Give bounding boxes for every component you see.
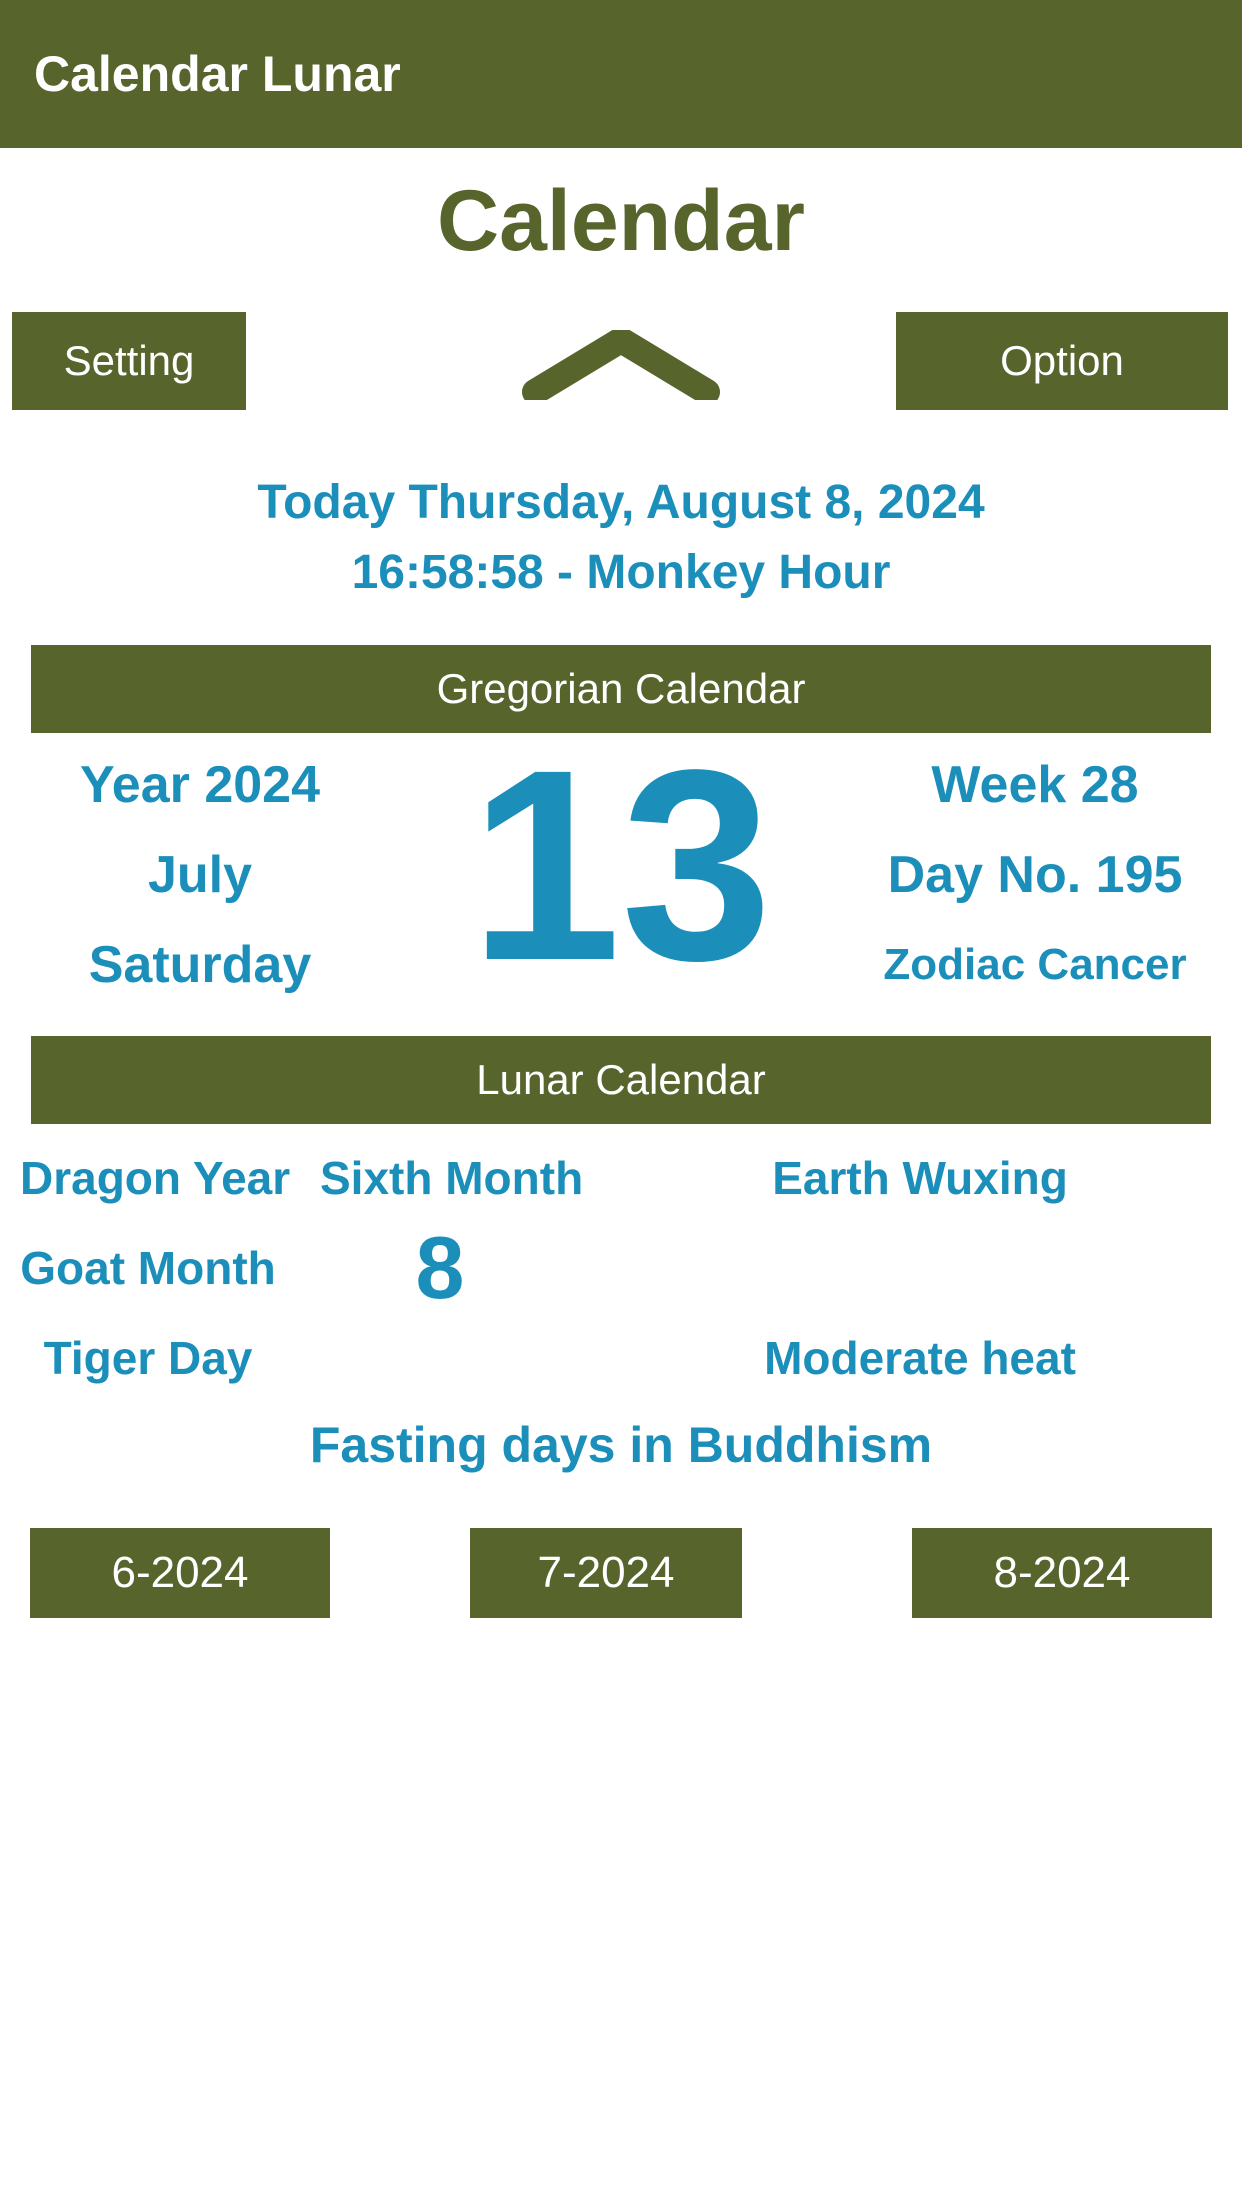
gregorian-left-column: Year 2024 July Saturday [25, 740, 375, 1010]
controls-row: Setting Option [0, 312, 1242, 410]
gregorian-month: July [25, 830, 375, 920]
today-datetime: Today Thursday, August 8, 2024 16:58:58 … [0, 468, 1242, 608]
fasting-section-title: Fasting days in Buddhism [0, 1415, 1242, 1475]
app-title: Calendar Lunar [34, 45, 401, 103]
today-time-line: 16:58:58 - Monkey Hour [0, 538, 1242, 608]
gregorian-day-no: Day No. 195 [860, 830, 1210, 920]
lunar-solar-term: Moderate heat [610, 1313, 1230, 1403]
gregorian-body: Year 2024 July Saturday 13 Week 28 Day N… [0, 740, 1242, 1020]
fasting-buttons-row: 6-2024 7-2024 8-2024 [0, 1528, 1242, 1618]
gregorian-zodiac: Zodiac Cancer [860, 920, 1210, 1010]
page-title: Calendar [0, 178, 1242, 264]
gregorian-day-number: 13 [421, 715, 821, 1015]
fasting-month-button-7[interactable]: 7-2024 [470, 1528, 742, 1618]
lunar-month-name: Sixth Month [320, 1133, 560, 1223]
lunar-day-animal: Tiger Day [20, 1313, 276, 1403]
gregorian-year: Year 2024 [25, 740, 375, 830]
fasting-month-button-6[interactable]: 6-2024 [30, 1528, 330, 1618]
lunar-section-header: Lunar Calendar [31, 1036, 1211, 1124]
app-bar: Calendar Lunar [0, 0, 1242, 148]
setting-button[interactable]: Setting [12, 312, 246, 410]
chevron-up-icon[interactable] [521, 330, 721, 400]
lunar-body: Dragon Year Goat Month Tiger Day Sixth M… [0, 1133, 1242, 1413]
gregorian-week: Week 28 [860, 740, 1210, 830]
lunar-spacer [610, 1223, 1230, 1313]
lunar-left-column: Dragon Year Goat Month Tiger Day [20, 1133, 276, 1403]
lunar-month-animal: Goat Month [20, 1223, 276, 1313]
lunar-center-column: Sixth Month 8 [320, 1133, 560, 1313]
gregorian-weekday: Saturday [25, 920, 375, 1010]
option-button[interactable]: Option [896, 312, 1228, 410]
fasting-month-button-8[interactable]: 8-2024 [912, 1528, 1212, 1618]
lunar-year: Dragon Year [20, 1133, 276, 1223]
lunar-day-number: 8 [320, 1223, 560, 1313]
lunar-right-column: Earth Wuxing Moderate heat [610, 1133, 1230, 1403]
today-date-line: Today Thursday, August 8, 2024 [0, 468, 1242, 538]
gregorian-right-column: Week 28 Day No. 195 Zodiac Cancer [860, 740, 1210, 1010]
lunar-wuxing: Earth Wuxing [610, 1133, 1230, 1223]
